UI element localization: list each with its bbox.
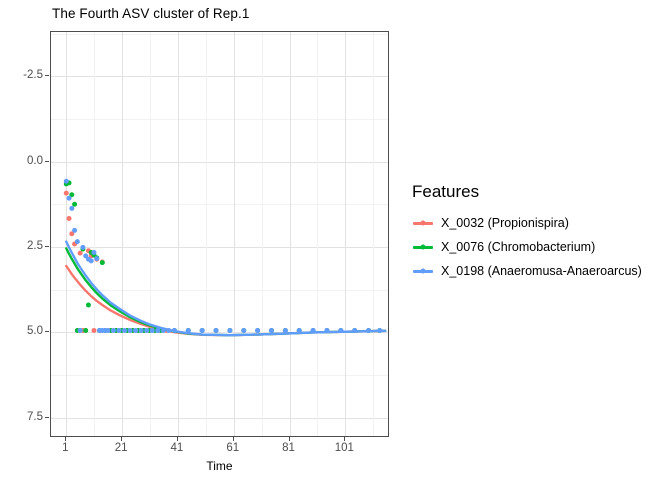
chart-root: The Fourth ASV cluster of Rep.1 7.55.02.… xyxy=(0,0,672,480)
data-point xyxy=(166,328,171,333)
data-point xyxy=(80,245,85,250)
data-point xyxy=(214,328,219,333)
legend-item[interactable]: X_0032 (Propionispira) xyxy=(411,211,666,235)
page-title: The Fourth ASV cluster of Rep.1 xyxy=(52,6,249,21)
x-axis-tick-labels: 121416181101 xyxy=(50,442,389,460)
x-axis-title: Time xyxy=(50,459,389,473)
legend-key-point xyxy=(421,245,426,250)
data-point xyxy=(133,328,138,333)
data-point xyxy=(67,196,72,201)
x-axis-tick-label: 61 xyxy=(226,442,239,454)
data-point xyxy=(116,328,121,333)
fit-curve xyxy=(66,242,385,336)
legend: Features X_0032 (Propionispira)X_0076 (C… xyxy=(411,182,666,283)
data-point xyxy=(255,328,260,333)
x-axis-tick-mark xyxy=(344,437,345,441)
data-point xyxy=(172,328,177,333)
data-point xyxy=(94,256,99,261)
data-point xyxy=(200,328,205,333)
data-point xyxy=(338,328,343,333)
legend-item[interactable]: X_0076 (Chromobacterium) xyxy=(411,235,666,259)
x-axis-tick-mark xyxy=(233,437,234,441)
legend-item-label: X_0076 (Chromobacterium) xyxy=(441,240,595,254)
x-axis-tick-mark xyxy=(289,437,290,441)
data-point xyxy=(67,216,72,221)
y-axis-tick-mark xyxy=(45,331,49,332)
data-point xyxy=(92,328,97,333)
data-point xyxy=(144,328,149,333)
legend-title: Features xyxy=(412,182,666,202)
legend-key-point xyxy=(421,269,426,274)
data-point xyxy=(139,328,144,333)
y-axis-tick-mark xyxy=(45,417,49,418)
fit-curve xyxy=(66,266,385,335)
x-axis-tick-label: 21 xyxy=(115,442,128,454)
data-point xyxy=(186,328,191,333)
legend-item-label: X_0032 (Propionispira) xyxy=(441,216,569,230)
x-axis-tick-mark xyxy=(65,437,66,441)
data-point xyxy=(227,328,232,333)
data-point xyxy=(72,202,77,207)
legend-key-x0198 xyxy=(411,259,435,283)
y-axis-tick-mark xyxy=(45,246,49,247)
x-axis-tick-mark xyxy=(177,437,178,441)
plot-panel xyxy=(50,31,389,437)
data-point xyxy=(128,328,133,333)
data-point xyxy=(241,328,246,333)
data-point xyxy=(311,328,316,333)
data-point xyxy=(297,328,302,333)
data-point xyxy=(78,328,83,333)
y-axis-tick-marks xyxy=(0,31,50,437)
data-point xyxy=(155,328,160,333)
data-point xyxy=(75,239,80,244)
series-x_0032 xyxy=(64,191,385,336)
data-point xyxy=(105,328,110,333)
data-point xyxy=(83,328,88,333)
legend-key-x0076 xyxy=(411,235,435,259)
data-point xyxy=(352,328,357,333)
data-point xyxy=(89,258,94,263)
data-point xyxy=(64,191,69,196)
data-point xyxy=(269,328,274,333)
fit-curve xyxy=(66,248,385,335)
x-axis-tick-mark xyxy=(121,437,122,441)
x-axis-tick-label: 81 xyxy=(282,442,295,454)
x-axis-tick-label: 1 xyxy=(62,442,68,454)
data-point xyxy=(324,328,329,333)
data-point xyxy=(100,260,105,265)
y-axis-tick-mark xyxy=(45,75,49,76)
plot-series-layer xyxy=(51,32,388,436)
legend-key-point xyxy=(421,221,426,226)
x-axis-tick-label: 101 xyxy=(335,442,354,454)
data-point xyxy=(72,228,77,233)
data-point xyxy=(377,328,382,333)
y-axis-tick-mark xyxy=(45,161,49,162)
legend-item-label: X_0198 (Anaeromusa-Anaeroarcus) xyxy=(441,264,642,278)
data-point xyxy=(78,251,83,256)
data-point xyxy=(111,328,116,333)
data-point xyxy=(366,328,371,333)
data-point xyxy=(64,179,69,184)
data-point xyxy=(161,328,166,333)
data-point xyxy=(283,328,288,333)
x-axis-tick-label: 41 xyxy=(171,442,184,454)
data-point xyxy=(92,250,97,255)
data-point xyxy=(150,328,155,333)
data-point xyxy=(122,328,127,333)
data-point xyxy=(86,303,91,308)
data-point xyxy=(69,206,74,211)
legend-item[interactable]: X_0198 (Anaeromusa-Anaeroarcus) xyxy=(411,259,666,283)
legend-items: X_0032 (Propionispira)X_0076 (Chromobact… xyxy=(411,211,666,283)
legend-key-x0032 xyxy=(411,211,435,235)
